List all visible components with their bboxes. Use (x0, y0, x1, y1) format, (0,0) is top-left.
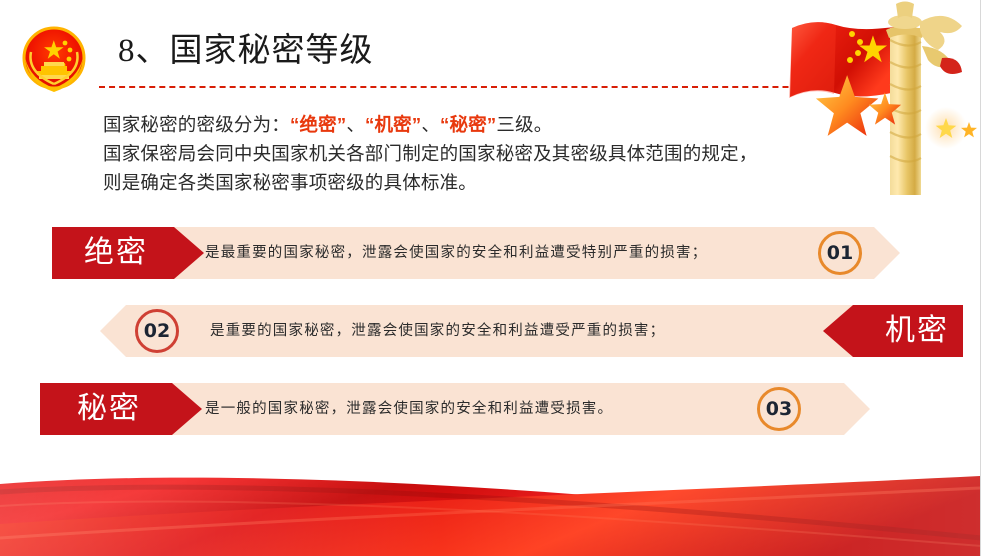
intro-line-1: 国家秘密的密级分为：“绝密”、“机密”、“秘密”三级。 (103, 110, 893, 139)
red-silk-ribbon-icon (0, 446, 981, 556)
level-row-2: 机密 是重要的国家秘密，泄露会使国家的安全和利益遭受严重的损害； 02 (0, 305, 981, 357)
intro-line1-suffix: 三级。 (496, 114, 552, 135)
intro-line1-prefix: 国家秘密的密级分为： (103, 114, 290, 135)
intro-paragraph: 国家秘密的密级分为：“绝密”、“机密”、“秘密”三级。 国家保密局会同中央国家机… (103, 110, 893, 197)
level-row-1: 绝密 是最重要的国家秘密，泄露会使国家的安全和利益遭受特别严重的损害； 01 (0, 227, 981, 279)
level-1-number-badge: 01 (818, 231, 862, 275)
level-3-tag: 秘密 (40, 383, 202, 435)
term-top-secret: “绝密” (290, 114, 346, 135)
intro-sep-2: 、 (421, 114, 440, 135)
level-3-number-badge: 03 (757, 387, 801, 431)
level-row-3: 秘密 是一般的国家秘密，泄露会使国家的安全和利益遭受损害。 03 (0, 383, 981, 435)
intro-line-2: 国家保密局会同中央国家机关各部门制定的国家秘密及其密级具体范围的规定， (103, 139, 893, 168)
level-2-description: 是重要的国家秘密，泄露会使国家的安全和利益遭受严重的损害； (210, 305, 665, 357)
page-title: 8、国家秘密等级 (118, 28, 374, 74)
slide-canvas: 8、国家秘密等级 (0, 0, 981, 556)
term-secret: “秘密” (440, 114, 496, 135)
intro-line-3: 则是确定各类国家秘密事项密级的具体标准。 (103, 168, 893, 197)
level-1-description: 是最重要的国家秘密，泄露会使国家的安全和利益遭受特别严重的损害； (205, 227, 707, 279)
term-confidential: “机密” (365, 114, 421, 135)
china-national-emblem-icon (17, 22, 91, 98)
level-2-number-badge: 02 (135, 309, 179, 353)
intro-sep-1: 、 (346, 114, 365, 135)
level-1-tag: 绝密 (52, 227, 204, 279)
level-3-description: 是一般的国家秘密，泄露会使国家的安全和利益遭受损害。 (205, 383, 613, 435)
